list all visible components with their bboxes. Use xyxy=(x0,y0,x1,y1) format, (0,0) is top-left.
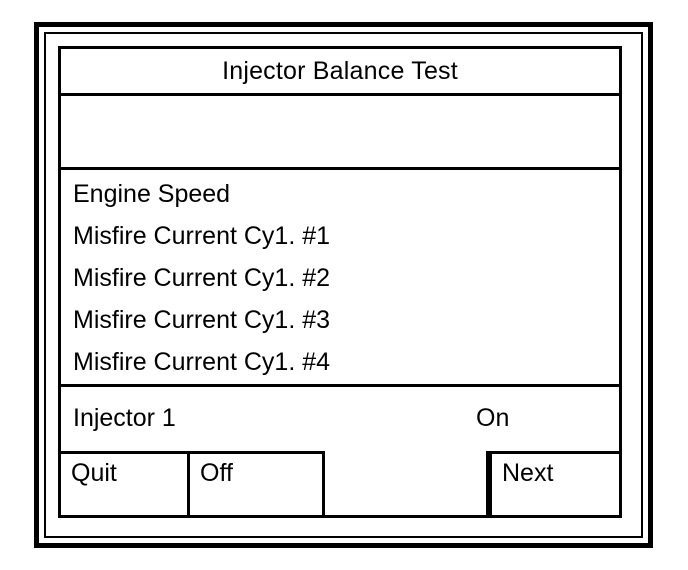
next-button-label: Next xyxy=(502,459,553,488)
list-item[interactable]: Misfire Current Cy1. #1 xyxy=(61,215,619,257)
list-item[interactable]: Misfire Current Cy1. #4 xyxy=(61,341,619,383)
list-item[interactable]: Misfire Current Cy1. #2 xyxy=(61,257,619,299)
empty-softkey xyxy=(325,451,489,515)
list-item[interactable]: Engine Speed xyxy=(61,173,619,215)
off-button-label: Off xyxy=(200,459,233,488)
injector-label: Injector 1 xyxy=(73,404,176,433)
scan-tool-screen: Injector Balance Test Engine Speed Misfi… xyxy=(58,46,622,518)
quit-button[interactable]: Quit xyxy=(61,451,190,515)
pid-list: Engine Speed Misfire Current Cy1. #1 Mis… xyxy=(61,170,619,387)
list-item[interactable]: Misfire Current Cy1. #3 xyxy=(61,299,619,341)
off-button[interactable]: Off xyxy=(190,451,325,515)
pid-label: Misfire Current Cy1. #3 xyxy=(73,306,330,335)
device-outer-bezel: Injector Balance Test Engine Speed Misfi… xyxy=(34,22,653,548)
device-inner-bezel: Injector Balance Test Engine Speed Misfi… xyxy=(44,32,643,538)
pid-label: Engine Speed xyxy=(73,180,230,209)
injector-status-row: Injector 1 On xyxy=(61,387,619,449)
quit-button-label: Quit xyxy=(71,459,117,488)
page-title: Injector Balance Test xyxy=(222,57,458,86)
pid-label: Misfire Current Cy1. #4 xyxy=(73,348,330,377)
softkey-bar: Quit Off Next xyxy=(61,451,619,515)
pid-label: Misfire Current Cy1. #1 xyxy=(73,222,330,251)
screen-title-bar: Injector Balance Test xyxy=(61,49,619,96)
header-blank-row xyxy=(61,96,619,170)
pid-label: Misfire Current Cy1. #2 xyxy=(73,264,330,293)
injector-state-value: On xyxy=(476,404,509,433)
next-button[interactable]: Next xyxy=(489,451,619,515)
